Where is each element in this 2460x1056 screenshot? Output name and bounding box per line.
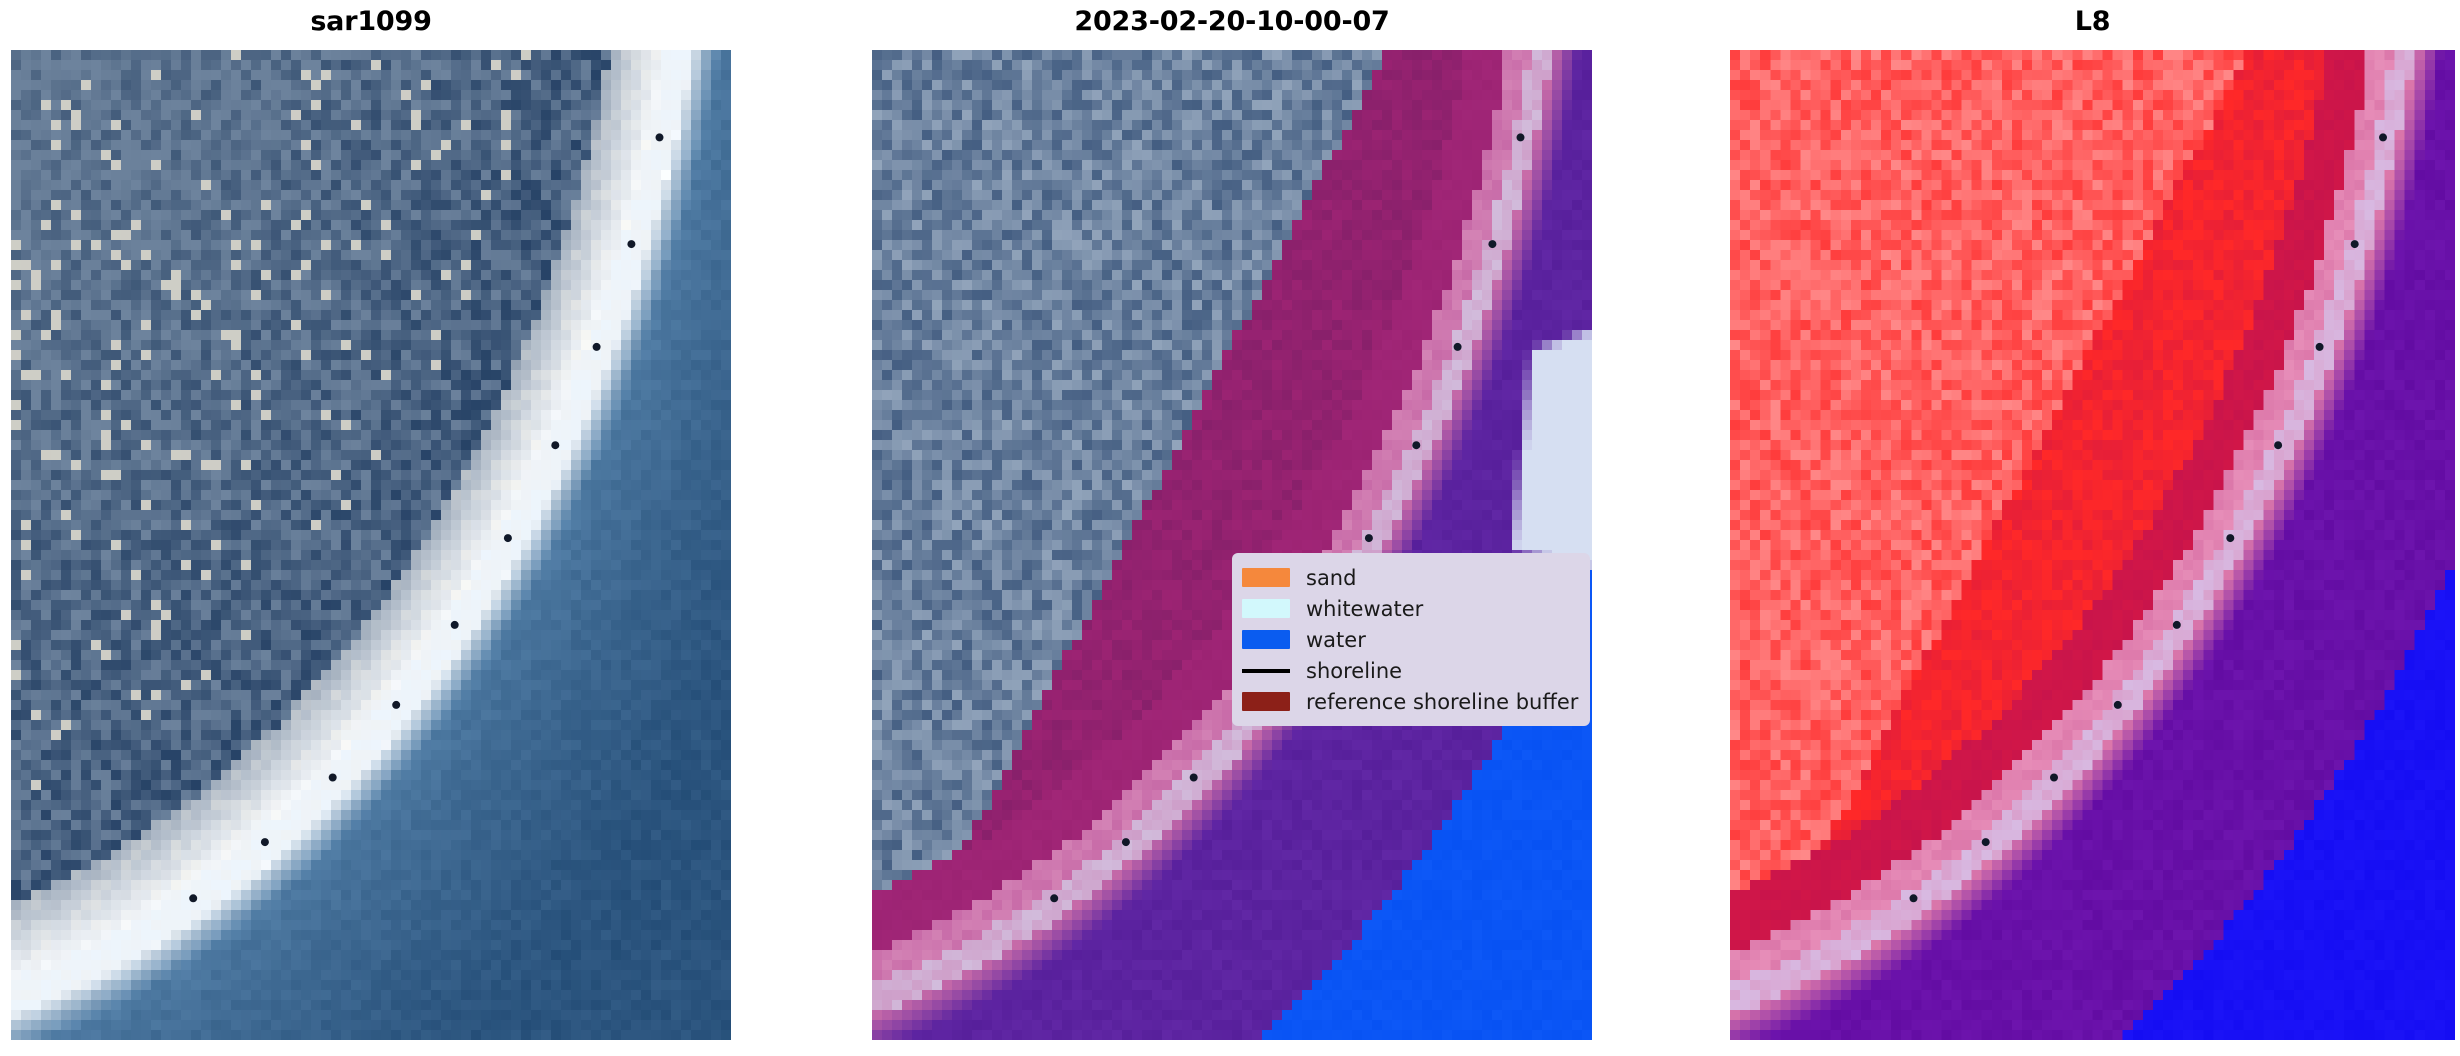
legend-row-shoreline: shoreline [1242, 655, 1578, 686]
legend-label: reference shoreline buffer [1306, 690, 1578, 714]
legend-swatch-shoreline-icon [1242, 669, 1290, 673]
legend-label: water [1306, 628, 1366, 652]
legend-swatch-sand-icon [1242, 568, 1290, 587]
panel-title-timestamp: 2023-02-20-10-00-07 [872, 8, 1592, 35]
legend-label: sand [1306, 566, 1356, 590]
figure-canvas: sar1099 2023-02-20-10-00-07 L8 sandwhite… [0, 0, 2460, 1056]
legend-box[interactable]: sandwhitewaterwatershorelinereference sh… [1232, 553, 1590, 726]
panel-classification-image[interactable] [872, 50, 1592, 1040]
panel-title-l8: L8 [1730, 8, 2455, 35]
legend-label: whitewater [1306, 597, 1423, 621]
legend-row-sand: sand [1242, 562, 1578, 593]
panel-title-sar1099: sar1099 [11, 8, 731, 35]
legend-label: shoreline [1306, 659, 1402, 683]
legend-swatch-water-icon [1242, 630, 1290, 649]
shoreline-overlay-panel3 [1730, 50, 2455, 1040]
shoreline-overlay-panel2 [872, 50, 1592, 1040]
shoreline-overlay-panel1 [11, 50, 731, 1040]
legend-row-whitewater: whitewater [1242, 593, 1578, 624]
legend-swatch-reference-shoreline-buffer-icon [1242, 692, 1290, 711]
legend-row-reference-shoreline-buffer: reference shoreline buffer [1242, 686, 1578, 717]
legend-row-water: water [1242, 624, 1578, 655]
panel-l8-image[interactable] [1730, 50, 2455, 1040]
panel-sar1099-image[interactable] [11, 50, 731, 1040]
legend-swatch-whitewater-icon [1242, 599, 1290, 618]
